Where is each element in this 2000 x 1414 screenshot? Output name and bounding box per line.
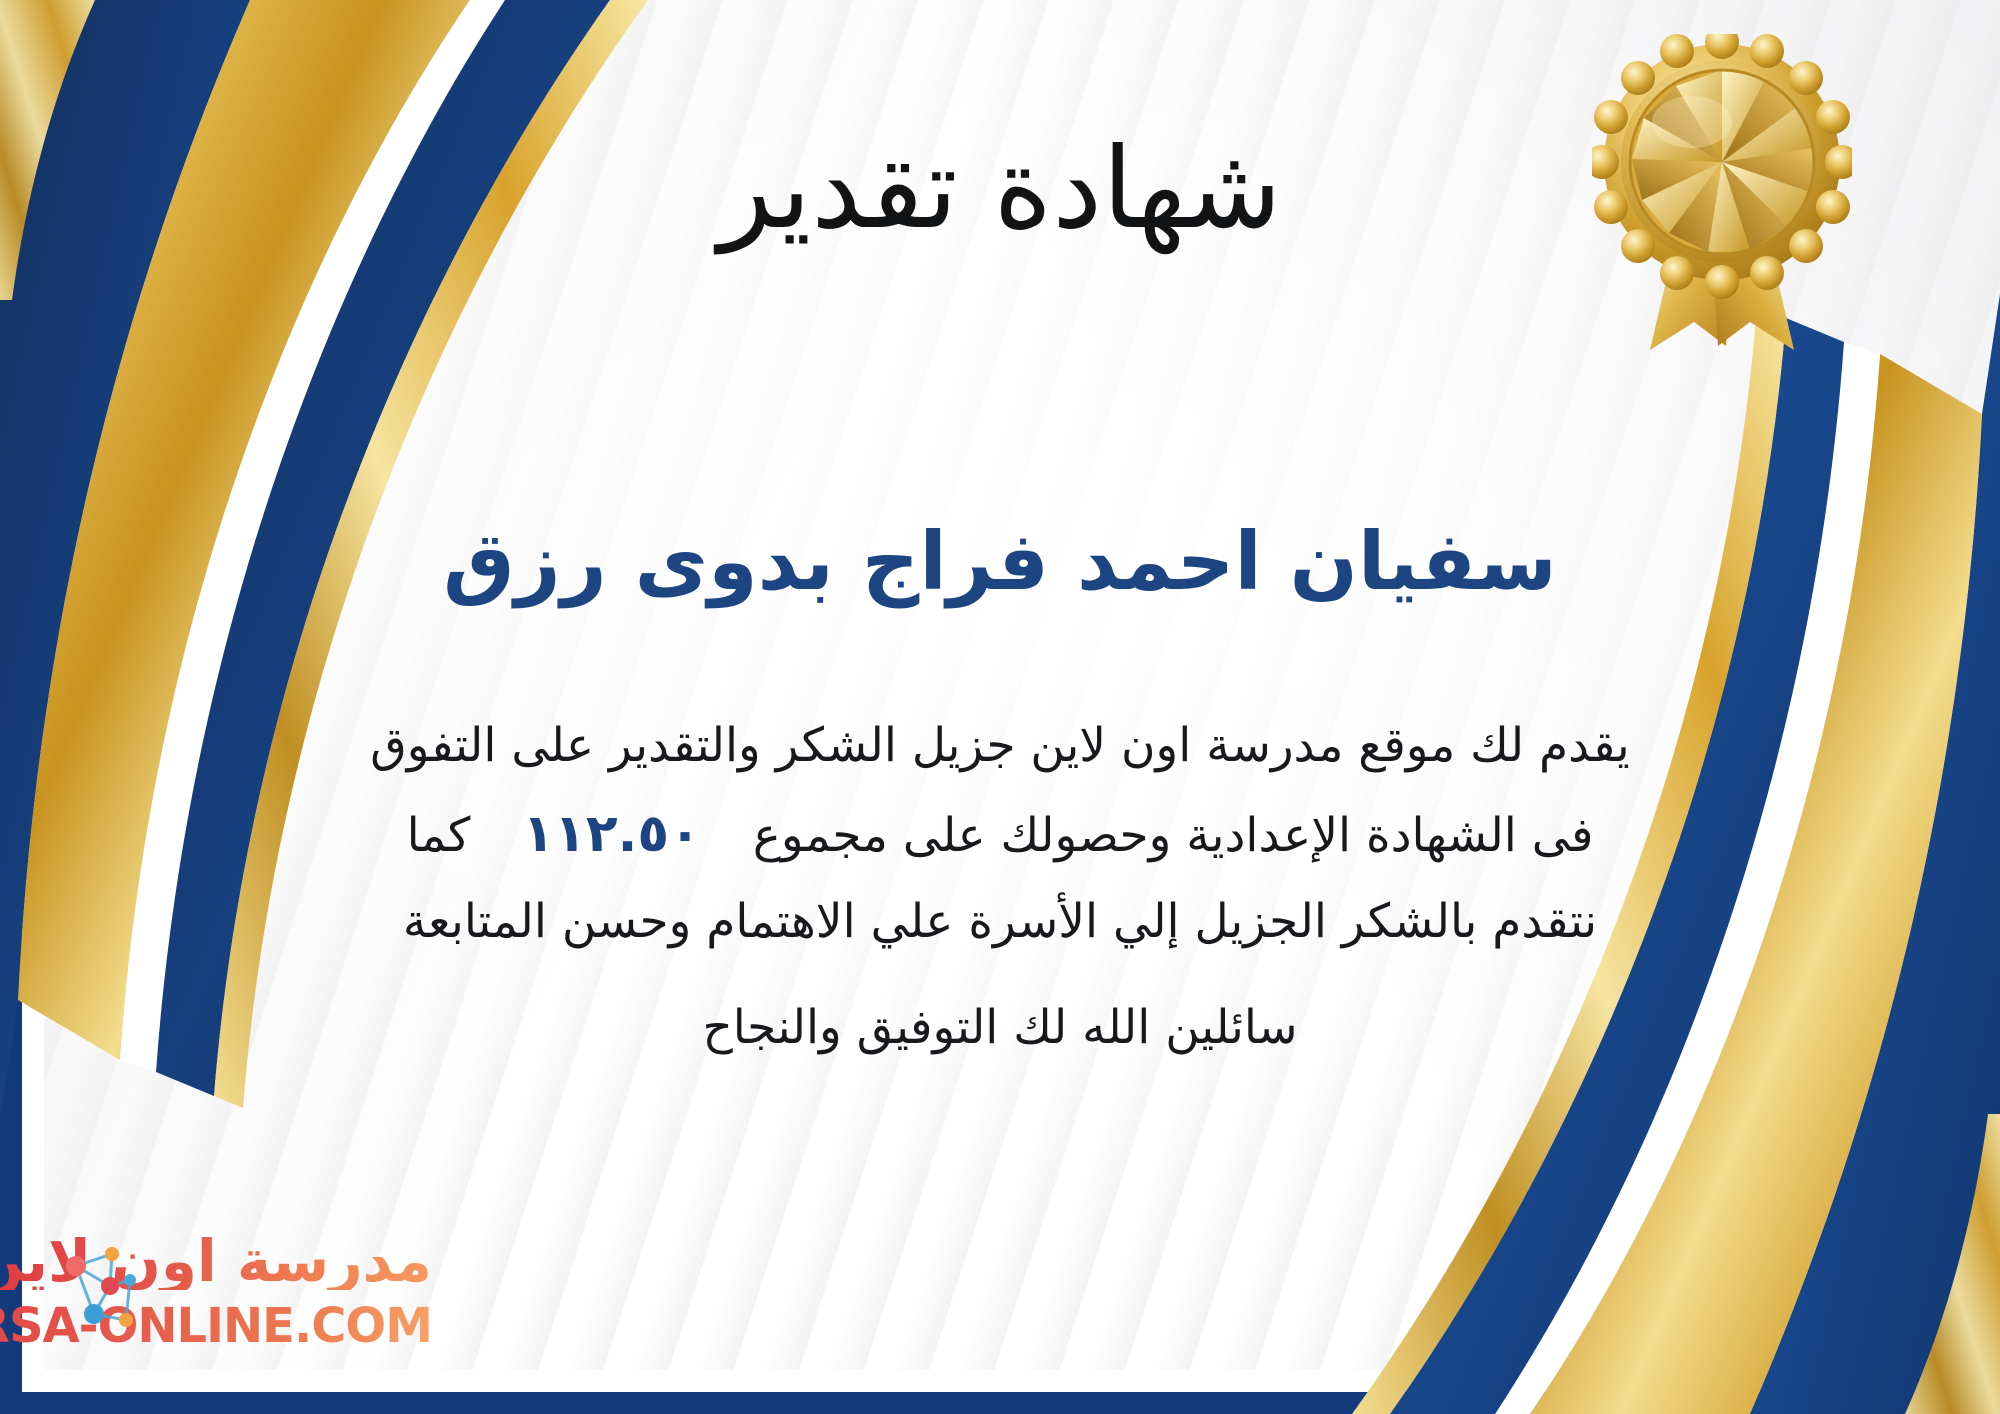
- page-title: شهادة تقدير: [170, 128, 1830, 251]
- closing-line: سائلين الله لك التوفيق والنجاح: [170, 1000, 1830, 1055]
- certificate-content: شهادة تقدير سفيان احمد فراج بدوى رزق يقد…: [170, 0, 1830, 1414]
- network-nodes-icon: [54, 1240, 146, 1352]
- body-line-2-suffix: كما: [407, 808, 471, 863]
- recipient-name: سفيان احمد فراج بدوى رزق: [170, 516, 1830, 608]
- brand-logo[interactable]: مدرسة اون لاين MADRSA-ONLINE.COM: [48, 1232, 518, 1372]
- certificate-body: يقدم لك موقع مدرسة اون لاين جزيل الشكر و…: [180, 704, 1820, 964]
- body-line-3: نتقدم بالشكر الجزيل إلي الأسرة علي الاهت…: [180, 880, 1820, 964]
- score-value: ١١٢.٥٠: [470, 804, 752, 864]
- body-line-1: يقدم لك موقع مدرسة اون لاين جزيل الشكر و…: [180, 704, 1820, 788]
- body-line-2-prefix: فى الشهادة الإعدادية وحصولك على مجموع: [753, 808, 1594, 863]
- certificate-page: شهادة تقدير سفيان احمد فراج بدوى رزق يقد…: [0, 0, 2000, 1414]
- body-line-2: فى الشهادة الإعدادية وحصولك على مجموع١١٢…: [180, 788, 1820, 881]
